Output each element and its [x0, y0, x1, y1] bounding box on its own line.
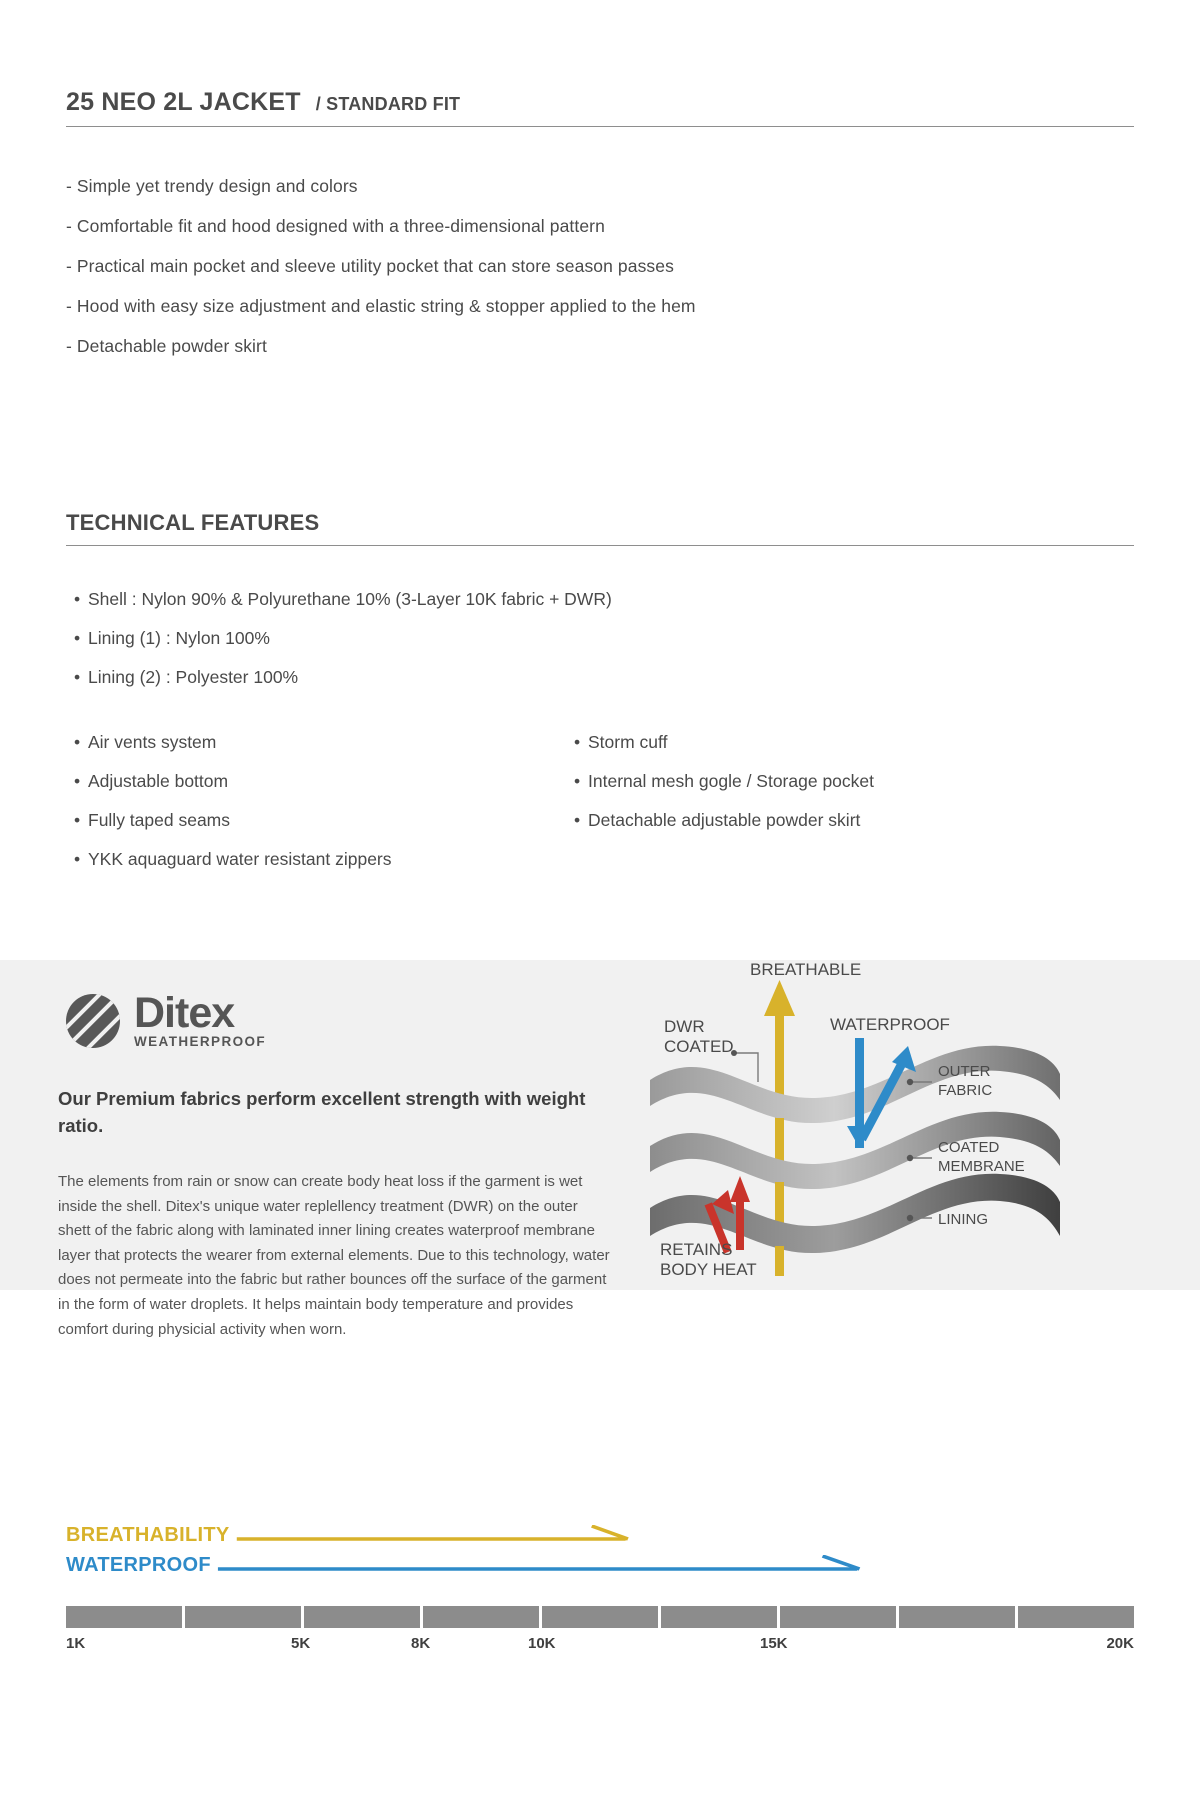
fabric-layer-diagram: BREATHABLE WATERPROOF DWR COATED RETAINS… [640, 950, 1200, 1290]
ditex-wordmark: Ditex WEATHERPROOF [134, 993, 266, 1049]
list-item: •YKK aquaguard water resistant zippers [74, 840, 574, 879]
feature-text: YKK aquaguard water resistant zippers [88, 849, 392, 869]
scale-segment [423, 1606, 542, 1628]
scale-segment [185, 1606, 304, 1628]
dwr-leader-line [736, 1053, 758, 1082]
scale-tick: 20K [1106, 1635, 1134, 1652]
materials-list: •Shell : Nylon 90% & Polyurethane 10% (3… [74, 580, 1074, 697]
page-title: 25 NEO 2L JACKET [66, 88, 301, 117]
brand-tagline: WEATHERPROOF [134, 1034, 266, 1049]
list-item: •Internal mesh gogle / Storage pocket [574, 762, 1074, 801]
scale-tick: 10K [528, 1635, 556, 1652]
coated-membrane-leader-dot [907, 1155, 913, 1161]
feature-column-right: •Storm cuff •Internal mesh gogle / Stora… [574, 723, 1074, 879]
scale-segment [66, 1606, 185, 1628]
brand-name: Ditex [134, 993, 266, 1033]
list-item: - Simple yet trendy design and colors [66, 166, 1126, 206]
bullet-icon: • [74, 801, 88, 840]
scale-ticks: 1K 5K 8K 10K 15K 20K [66, 1635, 1134, 1661]
outer-fabric-label-line1: OUTER [938, 1063, 991, 1080]
breathable-label: BREATHABLE [750, 960, 861, 979]
scale-segment [542, 1606, 661, 1628]
fit-label: / STANDARD FIT [316, 94, 460, 115]
scale-segment [304, 1606, 423, 1628]
bullet-icon: • [74, 762, 88, 801]
scale-bar [66, 1606, 1134, 1628]
material-text: Shell : Nylon 90% & Polyurethane 10% (3-… [88, 589, 612, 609]
list-item: - Detachable powder skirt [66, 326, 1126, 366]
section-title: TECHNICAL FEATURES [66, 510, 1134, 545]
dwr-coated-label-line1: DWR [664, 1017, 705, 1036]
product-spec-page: 25 NEO 2L JACKET / STANDARD FIT - Simple… [0, 0, 1200, 1800]
section-divider [66, 545, 1134, 546]
list-item: •Adjustable bottom [74, 762, 574, 801]
technical-features-header: TECHNICAL FEATURES [66, 510, 1134, 546]
bullet-icon: • [74, 723, 88, 762]
retains-heat-label-line2: BODY HEAT [660, 1260, 757, 1279]
feature-text: Air vents system [88, 732, 216, 752]
breathability-label: BREATHABILITY [66, 1524, 230, 1547]
bullet-icon: • [74, 658, 88, 697]
bullet-icon: • [574, 762, 588, 801]
performance-scale: BREATHABILITY WATERPROOF [66, 1520, 1134, 1661]
scale-tick: 8K [411, 1635, 430, 1652]
list-item: - Hood with easy size adjustment and ela… [66, 286, 1126, 326]
waterproof-label: WATERPROOF [66, 1554, 211, 1577]
list-item: •Storm cuff [574, 723, 1074, 762]
scale-segment [661, 1606, 780, 1628]
list-item: - Practical main pocket and sleeve utili… [66, 246, 1126, 286]
list-item: - Comfortable fit and hood designed with… [66, 206, 1126, 246]
material-text: Lining (2) : Polyester 100% [88, 667, 298, 687]
scale-tick: 1K [66, 1635, 85, 1652]
lining-leader-dot [907, 1215, 913, 1221]
feature-text: Adjustable bottom [88, 771, 228, 791]
list-item: •Detachable adjustable powder skirt [574, 801, 1074, 840]
scale-bar-wrap: 1K 5K 8K 10K 15K 20K [66, 1606, 1134, 1661]
ditex-panel: Ditex WEATHERPROOF Our Premium fabrics p… [0, 960, 1200, 1290]
scale-tick: 5K [291, 1635, 310, 1652]
ditex-body-copy: The elements from rain or snow can creat… [58, 1170, 610, 1342]
ditex-logo: Ditex WEATHERPROOF [66, 993, 266, 1049]
bullet-icon: • [74, 619, 88, 658]
coated-membrane-label-line1: COATED [938, 1139, 1000, 1156]
coated-membrane-label-line2: MEMBRANE [938, 1158, 1025, 1175]
feature-columns: •Air vents system •Adjustable bottom •Fu… [74, 723, 1084, 879]
list-item: •Air vents system [74, 723, 574, 762]
bullet-icon: • [74, 580, 88, 619]
feature-text: Detachable adjustable powder skirt [588, 810, 860, 830]
bullet-icon: • [574, 801, 588, 840]
ditex-mark-icon [66, 994, 120, 1048]
list-item: •Shell : Nylon 90% & Polyurethane 10% (3… [74, 580, 1074, 619]
feature-text: Fully taped seams [88, 810, 230, 830]
waterproof-label: WATERPROOF [830, 1015, 950, 1034]
retains-heat-label-line1: RETAINS [660, 1240, 732, 1259]
list-item: •Lining (2) : Polyester 100% [74, 658, 1074, 697]
scale-segment [899, 1606, 1018, 1628]
bullet-icon: • [574, 723, 588, 762]
bullet-icon: • [74, 840, 88, 879]
feature-text: Internal mesh gogle / Storage pocket [588, 771, 874, 791]
list-item: •Fully taped seams [74, 801, 574, 840]
dwr-coated-label-line2: COATED [664, 1037, 734, 1056]
breathability-arrow-icon [230, 1525, 1134, 1545]
breathability-row: BREATHABILITY [66, 1520, 1134, 1550]
highlight-list: - Simple yet trendy design and colors - … [66, 166, 1126, 366]
scale-segment [780, 1606, 899, 1628]
header-divider [66, 126, 1134, 127]
page-header: 25 NEO 2L JACKET / STANDARD FIT [66, 88, 1134, 127]
waterproof-arrow-icon [211, 1555, 1134, 1575]
outer-fabric-leader-dot [907, 1079, 913, 1085]
list-item: •Lining (1) : Nylon 100% [74, 619, 1074, 658]
feature-text: Storm cuff [588, 732, 667, 752]
waterproof-row: WATERPROOF [66, 1550, 1134, 1580]
scale-segment [1018, 1606, 1134, 1628]
outer-fabric-label-line2: FABRIC [938, 1082, 992, 1099]
lining-label: LINING [938, 1211, 988, 1228]
title-row: 25 NEO 2L JACKET / STANDARD FIT [66, 88, 1134, 126]
ditex-lede: Our Premium fabrics perform excellent st… [58, 1085, 618, 1139]
scale-tick: 15K [760, 1635, 788, 1652]
feature-column-left: •Air vents system •Adjustable bottom •Fu… [74, 723, 574, 879]
material-text: Lining (1) : Nylon 100% [88, 628, 270, 648]
